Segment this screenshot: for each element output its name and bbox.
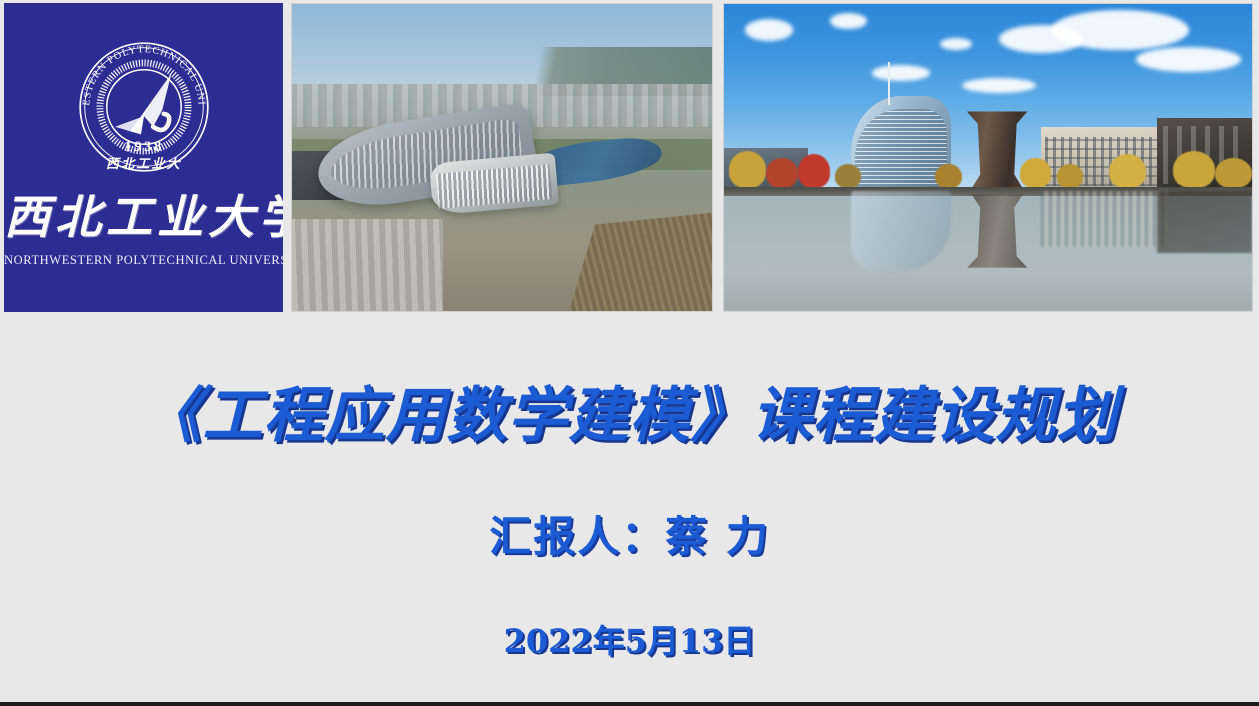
svg-text:西北工业大: 西北工业大 [106, 156, 182, 172]
presenter-line: 汇报人：蔡 力 [0, 503, 1259, 564]
slide-title: 《工程应用数学建模》课程建设规划 [0, 367, 1259, 454]
nwpu-seal-emblem: NORTHWESTERN POLYTECHNICAL UNIVERSITY 19… [68, 31, 220, 183]
photo-campus-lake [723, 3, 1253, 312]
svg-text:1938: 1938 [124, 138, 164, 155]
presentation-title-slide: NORTHWESTERN POLYTECHNICAL UNIVERSITY 19… [0, 0, 1259, 706]
university-logo-panel: NORTHWESTERN POLYTECHNICAL UNIVERSITY 19… [4, 3, 283, 312]
photo-campus-aerial [291, 3, 713, 312]
university-name-cn: 西北工业大学 [4, 189, 283, 245]
banner-strip: NORTHWESTERN POLYTECHNICAL UNIVERSITY 19… [0, 0, 1259, 315]
svg-text:NORTHWESTERN POLYTECHNICAL UNI: NORTHWESTERN POLYTECHNICAL UNIVERSITY [68, 31, 207, 106]
slide-date: 2022年5月13日 [0, 616, 1259, 662]
university-name-en: NORTHWESTERN POLYTECHNICAL UNIVERSITY [4, 253, 283, 268]
